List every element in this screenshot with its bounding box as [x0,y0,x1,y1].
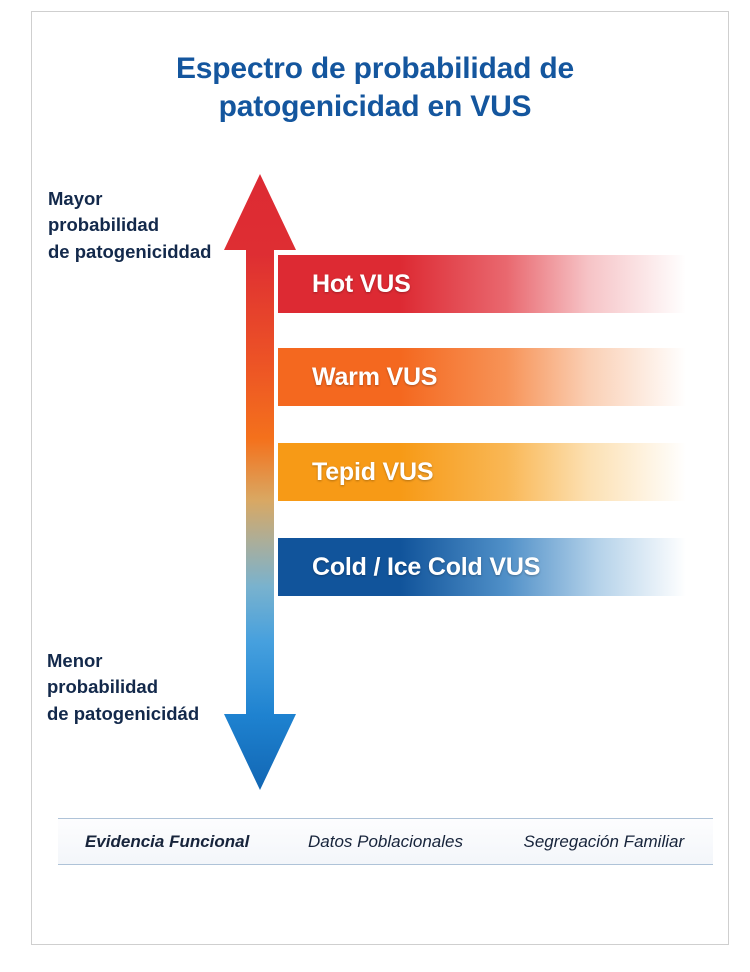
evidence-item-population: Datos Poblacionales [276,832,494,852]
axis-label-high-probability: Mayor probabilidad de patogeniciddad [48,186,211,265]
axis-top-line-1: Mayor [48,186,211,212]
axis-bottom-line-1: Menor [47,648,199,674]
axis-top-line-2: probabilidad [48,212,211,238]
title-line-2: patogenicidad en VUS [90,88,660,126]
spectrum-bar-label-cold: Cold / Ice Cold VUS [312,553,540,582]
evidence-item-functional: Evidencia Funcional [58,832,276,852]
spectrum-bar-hot: Hot VUS [278,255,686,313]
figure-root: Espectro de probabilidad de patogenicida… [0,0,750,972]
spectrum-bar-cold: Cold / Ice Cold VUS [278,538,686,596]
axis-top-line-3: de patogeniciddad [48,239,211,265]
axis-bottom-line-2: probabilidad [47,674,199,700]
spectrum-bar-label-warm: Warm VUS [312,363,437,392]
axis-label-low-probability: Menor probabilidad de patogenicidád [47,648,199,727]
axis-bottom-line-3: de patogenicidád [47,701,199,727]
evidence-item-segregation: Segregación Familiar [495,832,713,852]
spectrum-bar-tepid: Tepid VUS [278,443,686,501]
title-line-1: Espectro de probabilidad de [90,50,660,88]
spectrum-bar-label-hot: Hot VUS [312,270,411,299]
spectrum-bar-warm: Warm VUS [278,348,686,406]
page-title: Espectro de probabilidad de patogenicida… [90,50,660,127]
evidence-legend: Evidencia Funcional Datos Poblacionales … [58,818,713,865]
spectrum-bar-label-tepid: Tepid VUS [312,458,433,487]
